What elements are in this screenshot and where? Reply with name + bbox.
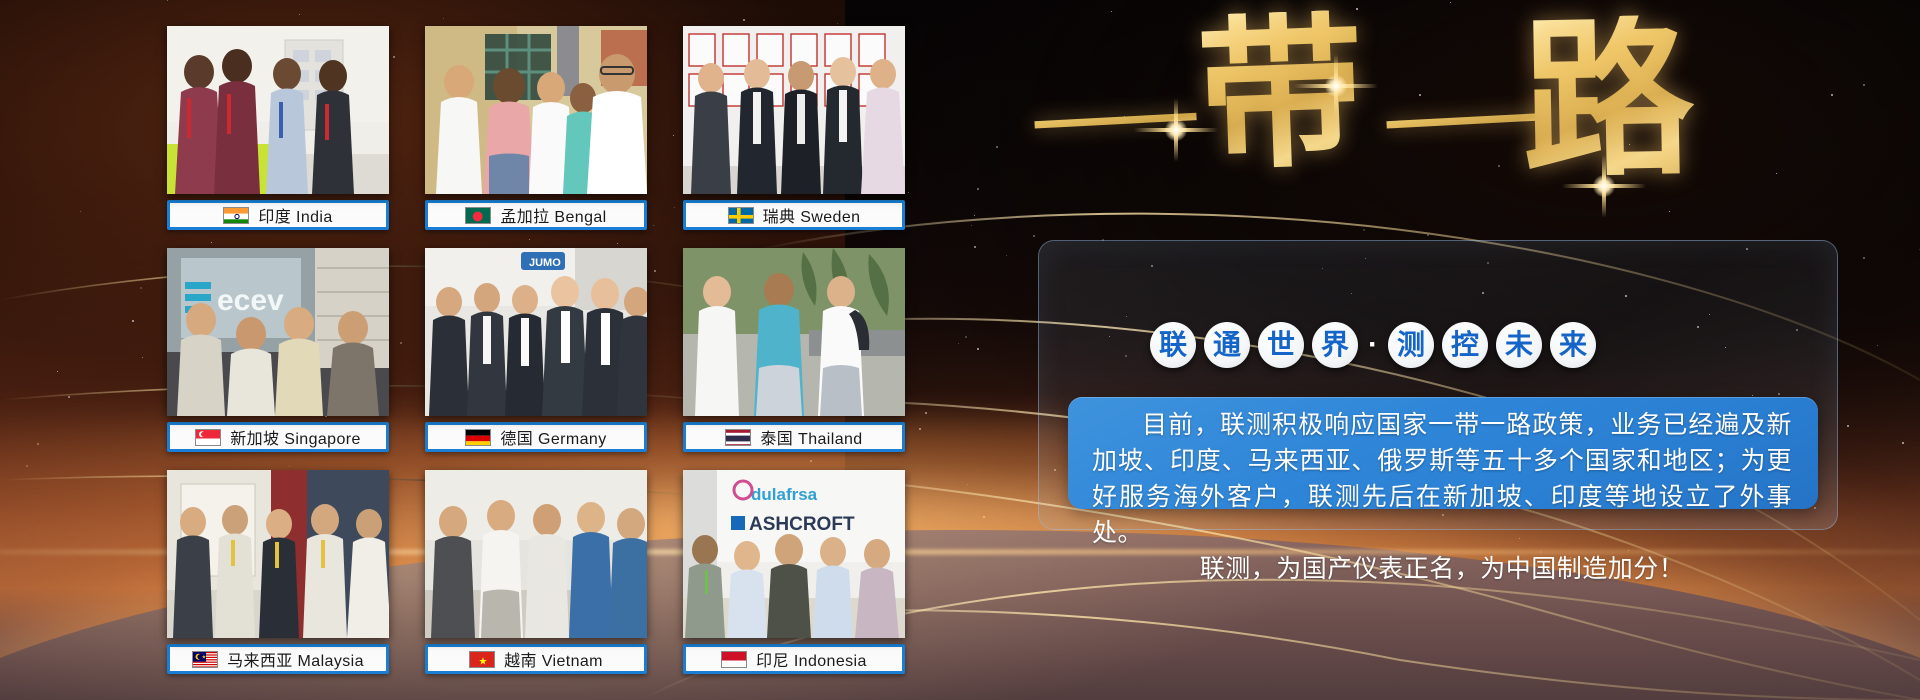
description-paragraph-2: 联测，为国产仪表正名，为中国制造加分！ [1092,551,1792,587]
photo-thailand [683,248,905,416]
gallery-item-sweden[interactable]: 瑞典 Sweden [683,26,905,230]
slogan-badge-3: 世 [1258,322,1304,368]
photo-india [167,26,389,194]
photo-indonesia: dulafrsa ASHCROFT [683,470,905,638]
slogan-badge-7: 未 [1496,322,1542,368]
gallery-item-malaysia[interactable]: ★ 马来西亚 Malaysia [167,470,389,674]
photo-vietnam [425,470,647,638]
gallery-item-bengal[interactable]: 孟加拉 Bengal [425,26,647,230]
slogan-badge-5: 测 [1388,322,1434,368]
slogan-badge-6: 控 [1442,322,1488,368]
label-text: 印尼 Indonesia [756,647,867,671]
description-paragraph-1: 目前，联测积极响应国家一带一路政策，业务已经遍及新加坡、印度、马来西亚、俄罗斯等… [1092,407,1792,551]
calligraphy-char-1: 一 [1028,88,1202,162]
slogan-badge-1: 联 [1150,322,1196,368]
photo-singapore: ecev [167,248,389,416]
label-text: 新加坡 Singapore [230,425,361,449]
label-text: 马来西亚 Malaysia [227,647,364,671]
gallery-item-indonesia[interactable]: dulafrsa ASHCROFT [683,470,905,674]
label-text: 孟加拉 Bengal [500,203,606,227]
label-sweden[interactable]: 瑞典 Sweden [683,200,905,230]
calligraphy-char-4: 路 [1521,15,1696,190]
gallery-item-thailand[interactable]: 泰国 Thailand [683,248,905,452]
gallery-item-germany[interactable]: JUMO [425,248,647,452]
photo-germany: JUMO [425,248,647,416]
label-malaysia[interactable]: ★ 马来西亚 Malaysia [167,644,389,674]
label-thailand[interactable]: 泰国 Thailand [683,422,905,452]
country-gallery-grid: 印度 India [167,26,905,674]
malaysia-flag: ★ [192,651,218,668]
svg-text:★: ★ [479,656,488,667]
calligraphy-char-2: 带 [1195,9,1367,181]
vietnam-flag: ★ [469,651,495,668]
svg-text:★: ★ [202,654,207,660]
label-indonesia[interactable]: 印尼 Indonesia [683,644,905,674]
thailand-flag [725,429,751,446]
slogan-badge-2: 通 [1204,322,1250,368]
slogan-badge-4: 界 [1312,322,1358,368]
label-germany[interactable]: 德国 Germany [425,422,647,452]
svg-text:JUMO: JUMO [529,257,561,269]
svg-text:dulafrsa: dulafrsa [751,485,818,504]
label-vietnam[interactable]: ★ 越南 Vietnam [425,644,647,674]
label-india[interactable]: 印度 India [167,200,389,230]
germany-flag [465,429,491,446]
gallery-item-india[interactable]: 印度 India [167,26,389,230]
slogan-badge-8: 来 [1550,322,1596,368]
label-bengal[interactable]: 孟加拉 Bengal [425,200,647,230]
label-text: 泰国 Thailand [760,425,862,449]
label-text: 瑞典 Sweden [763,203,861,227]
svg-text:ecev: ecev [217,284,284,317]
singapore-flag [195,429,221,446]
photo-bengal [425,26,647,194]
label-text: 越南 Vietnam [504,647,603,671]
bangladesh-flag [465,207,491,224]
photo-malaysia [167,470,389,638]
sweden-flag [728,207,754,224]
photo-sweden [683,26,905,194]
gallery-item-vietnam[interactable]: ★ 越南 Vietnam [425,470,647,674]
label-text: 德国 Germany [500,425,606,449]
indonesia-flag [721,651,747,668]
label-text: 印度 India [258,203,332,227]
india-flag [223,207,249,224]
info-panel-body: 目前，联测积极响应国家一带一路政策，业务已经遍及新加坡、印度、马来西亚、俄罗斯等… [1068,397,1818,509]
slogan-separator: · [1366,330,1380,360]
calligraphy-title: 一 带 一 路 [1030,8,1650,218]
svg-text:ASHCROFT: ASHCROFT [749,514,855,535]
banner-stage: 印度 India [0,0,1920,700]
label-singapore[interactable]: 新加坡 Singapore [167,422,389,452]
gallery-item-singapore[interactable]: ecev [167,248,389,452]
slogan-badges: 联 通 世 界 · 测 控 未 来 [1150,322,1596,368]
